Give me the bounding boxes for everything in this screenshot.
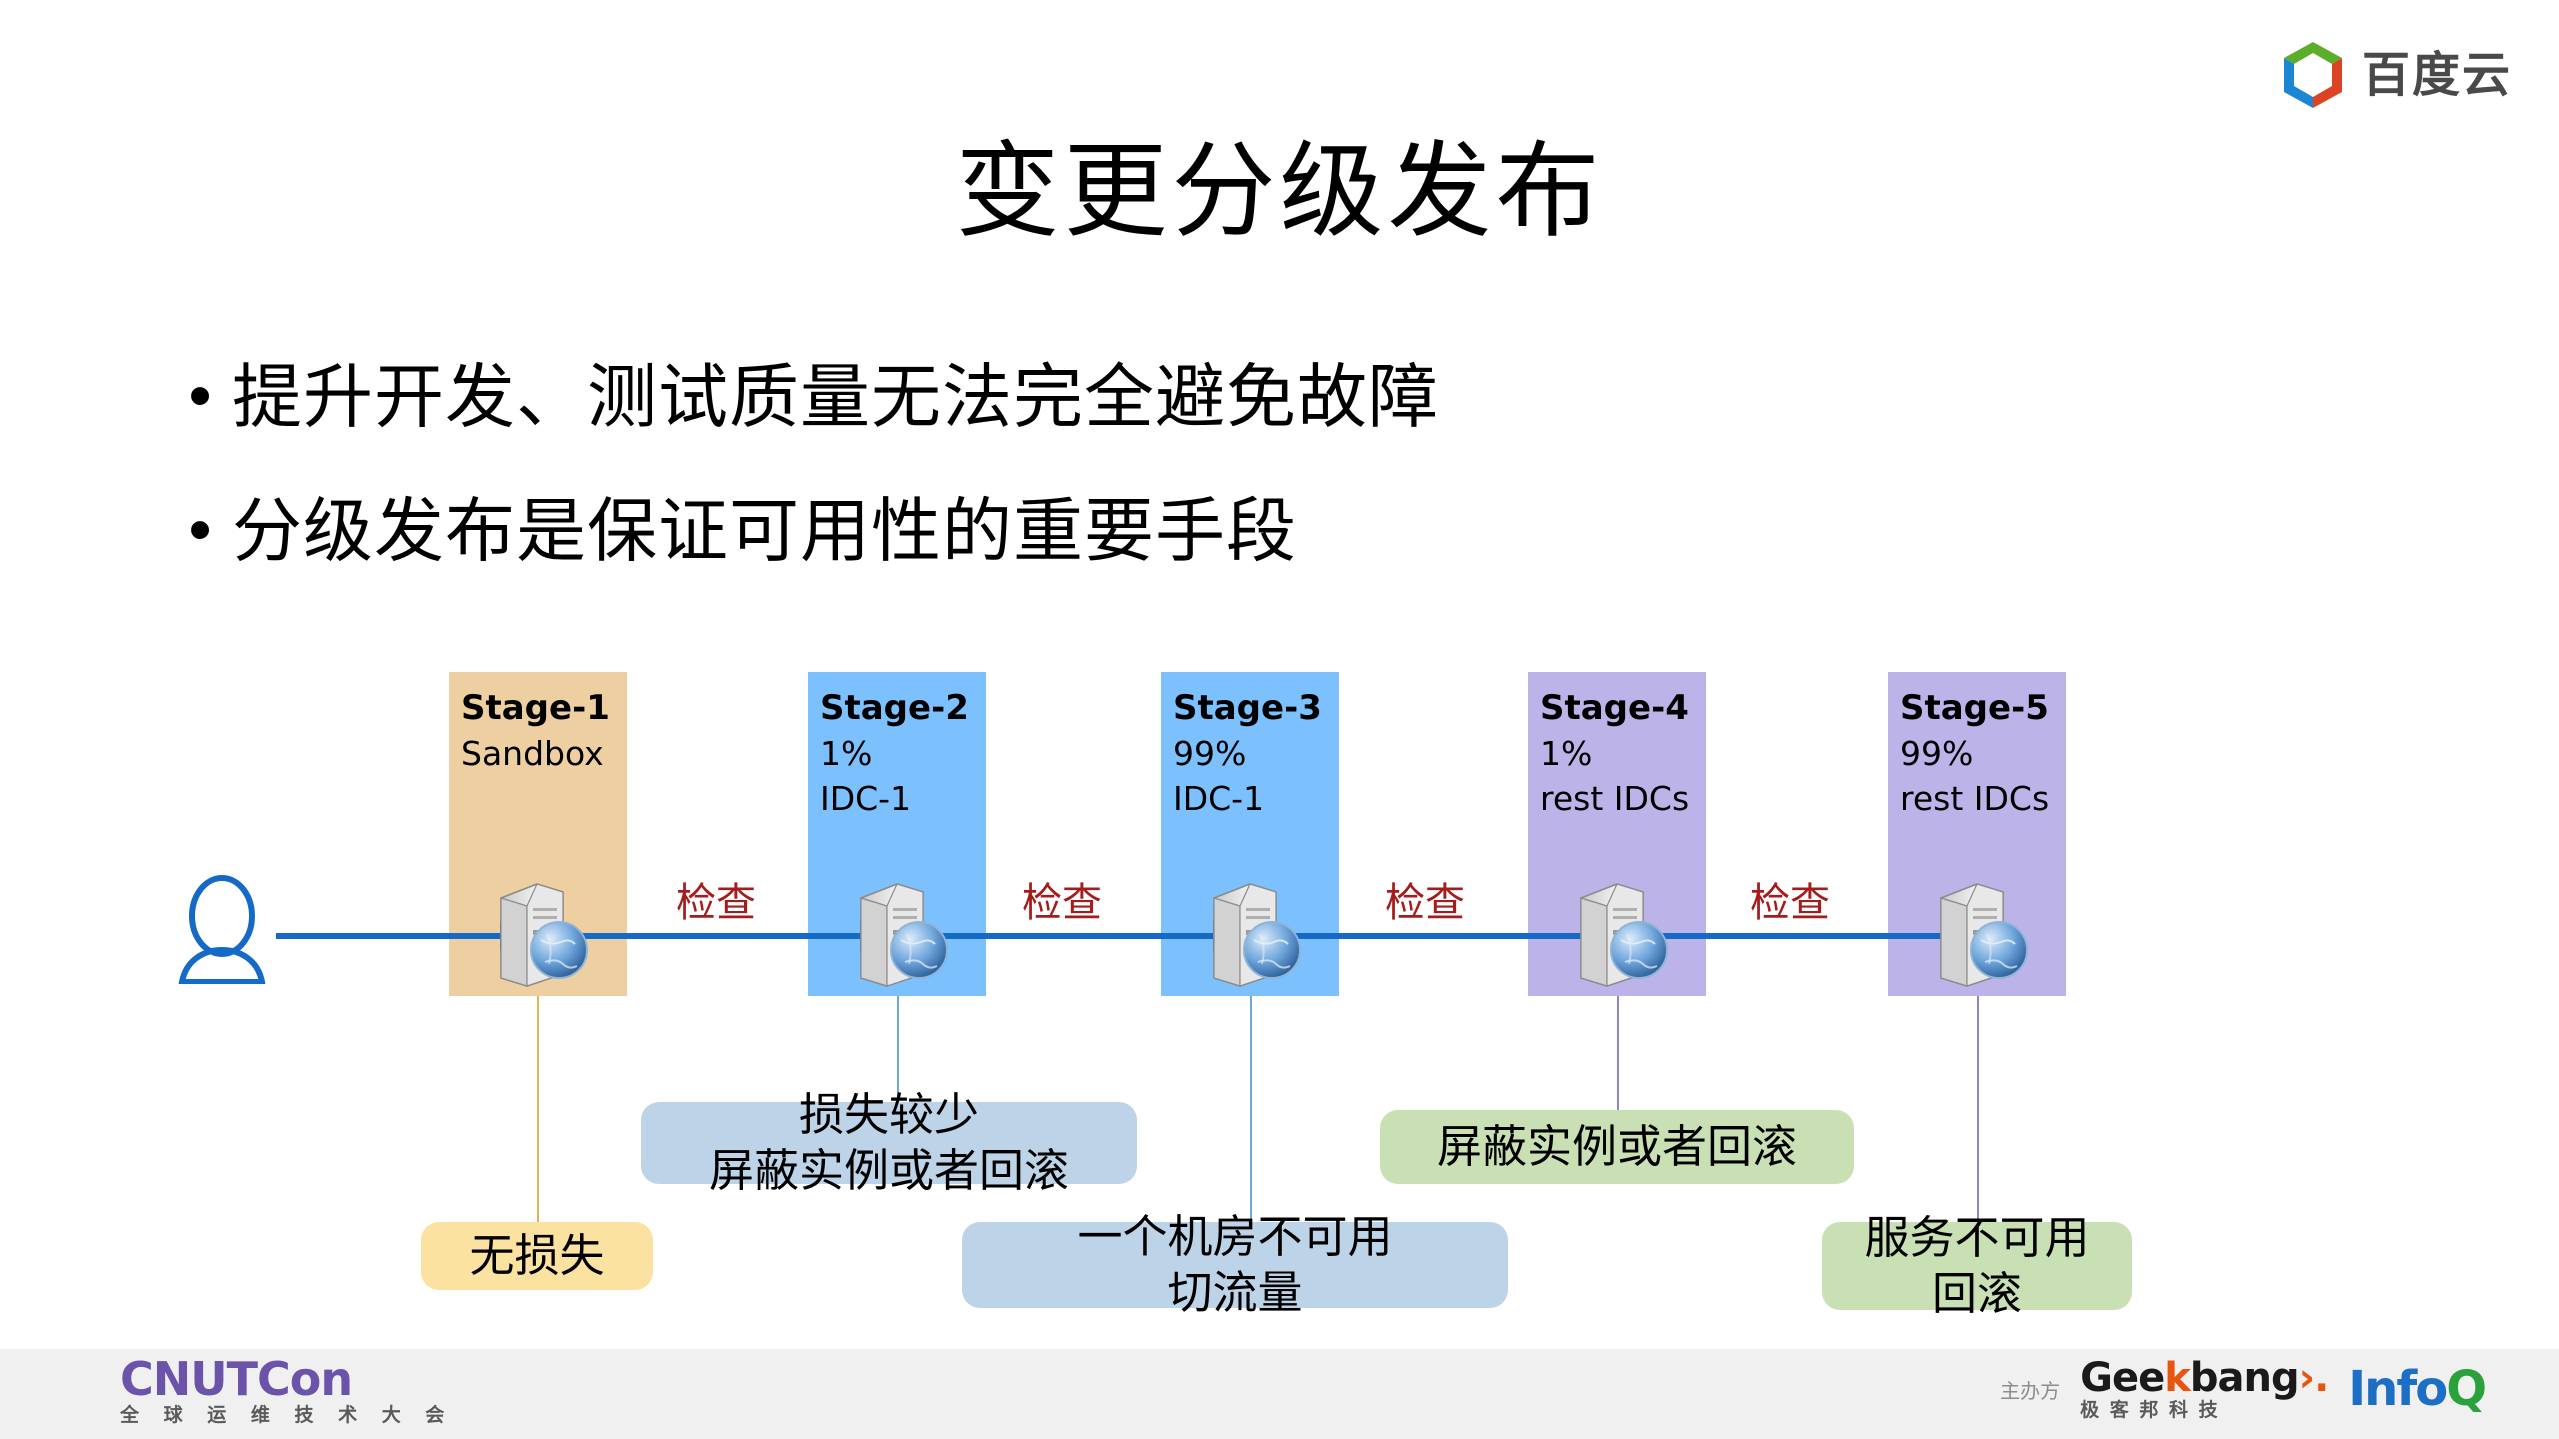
server-globe-icon (849, 878, 953, 990)
flow-line-segment-3 (1289, 933, 1589, 939)
callout-stage-4-line-1: 屏蔽实例或者回滚 (1437, 1119, 1797, 1175)
callout-stage-3: 一个机房不可用 切流量 (962, 1222, 1508, 1308)
check-label-3: 检查 (1385, 870, 1465, 928)
geekbang-wordmark: Geekbang›. (2080, 1358, 2328, 1398)
callout-stage-3-line-1: 一个机房不可用 (1077, 1209, 1392, 1265)
geekbang-arrow-icon: ›. (2299, 1355, 2329, 1401)
stage-detail-3-1: IDC-1 (1173, 776, 1339, 821)
host-label: 主办方 (2000, 1375, 2060, 1404)
flow-line-segment-0 (276, 933, 508, 939)
stage-release-diagram: Stage-1 Sandbox Stage-2 1% IDC-1 Stage-3… (0, 0, 2559, 1439)
sponsor-group: 主办方 Geekbang›. 极 客 邦 科 技 InfoQ (2000, 1358, 2485, 1420)
callout-stage-2-line-2: 屏蔽实例或者回滚 (709, 1143, 1069, 1199)
connector-line-stage-1 (537, 996, 539, 1222)
callout-stage-5: 服务不可用 回滚 (1822, 1222, 2132, 1310)
geekbang-part-bang: bang (2190, 1355, 2299, 1401)
flow-line-segment-2 (936, 933, 1221, 939)
check-label-2: 检查 (1022, 870, 1102, 928)
flow-line-segment-4 (1656, 933, 1949, 939)
callout-stage-4: 屏蔽实例或者回滚 (1380, 1110, 1854, 1184)
stage-detail-2-1: IDC-1 (820, 776, 986, 821)
connector-line-stage-3 (1250, 996, 1252, 1222)
stage-title-1: Stage-1 (461, 686, 627, 731)
server-globe-icon (1202, 878, 1306, 990)
geekbang-part-k: k (2164, 1355, 2190, 1401)
stage-title-4: Stage-4 (1540, 686, 1706, 731)
stage-detail-3-0: 99% (1173, 731, 1339, 776)
check-label-4: 检查 (1750, 870, 1830, 928)
stage-title-2: Stage-2 (820, 686, 986, 731)
stage-detail-5-0: 99% (1900, 731, 2066, 776)
infoq-part-info: Info (2348, 1361, 2446, 1417)
callout-stage-5-line-1: 服务不可用 (1864, 1210, 2089, 1266)
flow-line-segment-1 (576, 933, 868, 939)
stage-title-5: Stage-5 (1900, 686, 2066, 731)
callout-stage-1: 无损失 (421, 1222, 653, 1290)
check-label-1: 检查 (676, 870, 756, 928)
connector-line-stage-5 (1977, 996, 1979, 1222)
server-globe-icon (1569, 878, 1673, 990)
stage-detail-2-0: 1% (820, 731, 986, 776)
geekbang-logo: Geekbang›. 极 客 邦 科 技 (2080, 1358, 2328, 1420)
server-globe-icon (489, 878, 593, 990)
cnutcon-logo: CNUTCon 全 球 运 维 技 术 大 会 (120, 1355, 453, 1427)
user-person-icon (176, 872, 268, 984)
connector-line-stage-4 (1617, 996, 1619, 1110)
geekbang-sub: 极 客 邦 科 技 (2080, 1401, 2328, 1420)
callout-stage-5-line-2: 回滚 (1932, 1266, 2022, 1322)
infoq-logo: InfoQ (2348, 1365, 2485, 1413)
server-globe-icon (1929, 878, 2033, 990)
infoq-part-q: Q (2446, 1361, 2485, 1417)
stage-detail-5-1: rest IDCs (1900, 776, 2066, 821)
callout-stage-3-line-2: 切流量 (1167, 1265, 1302, 1321)
stage-detail-4-0: 1% (1540, 731, 1706, 776)
callout-stage-2-line-1: 损失较少 (799, 1087, 979, 1143)
cnutcon-name: CNUTCon (120, 1355, 453, 1403)
stage-detail-4-1: rest IDCs (1540, 776, 1706, 821)
callout-stage-2: 损失较少 屏蔽实例或者回滚 (641, 1102, 1137, 1184)
stage-title-3: Stage-3 (1173, 686, 1339, 731)
stage-detail-1-0: Sandbox (461, 731, 627, 776)
geekbang-part-gee: Gee (2080, 1355, 2164, 1401)
cnutcon-tagline: 全 球 运 维 技 术 大 会 (120, 1403, 453, 1427)
callout-stage-1-line-1: 无损失 (469, 1228, 604, 1284)
slide-canvas: 百度云 变更分级发布 • 提升开发、测试质量无法完全避免故障 • 分级发布是保证… (0, 0, 2559, 1439)
